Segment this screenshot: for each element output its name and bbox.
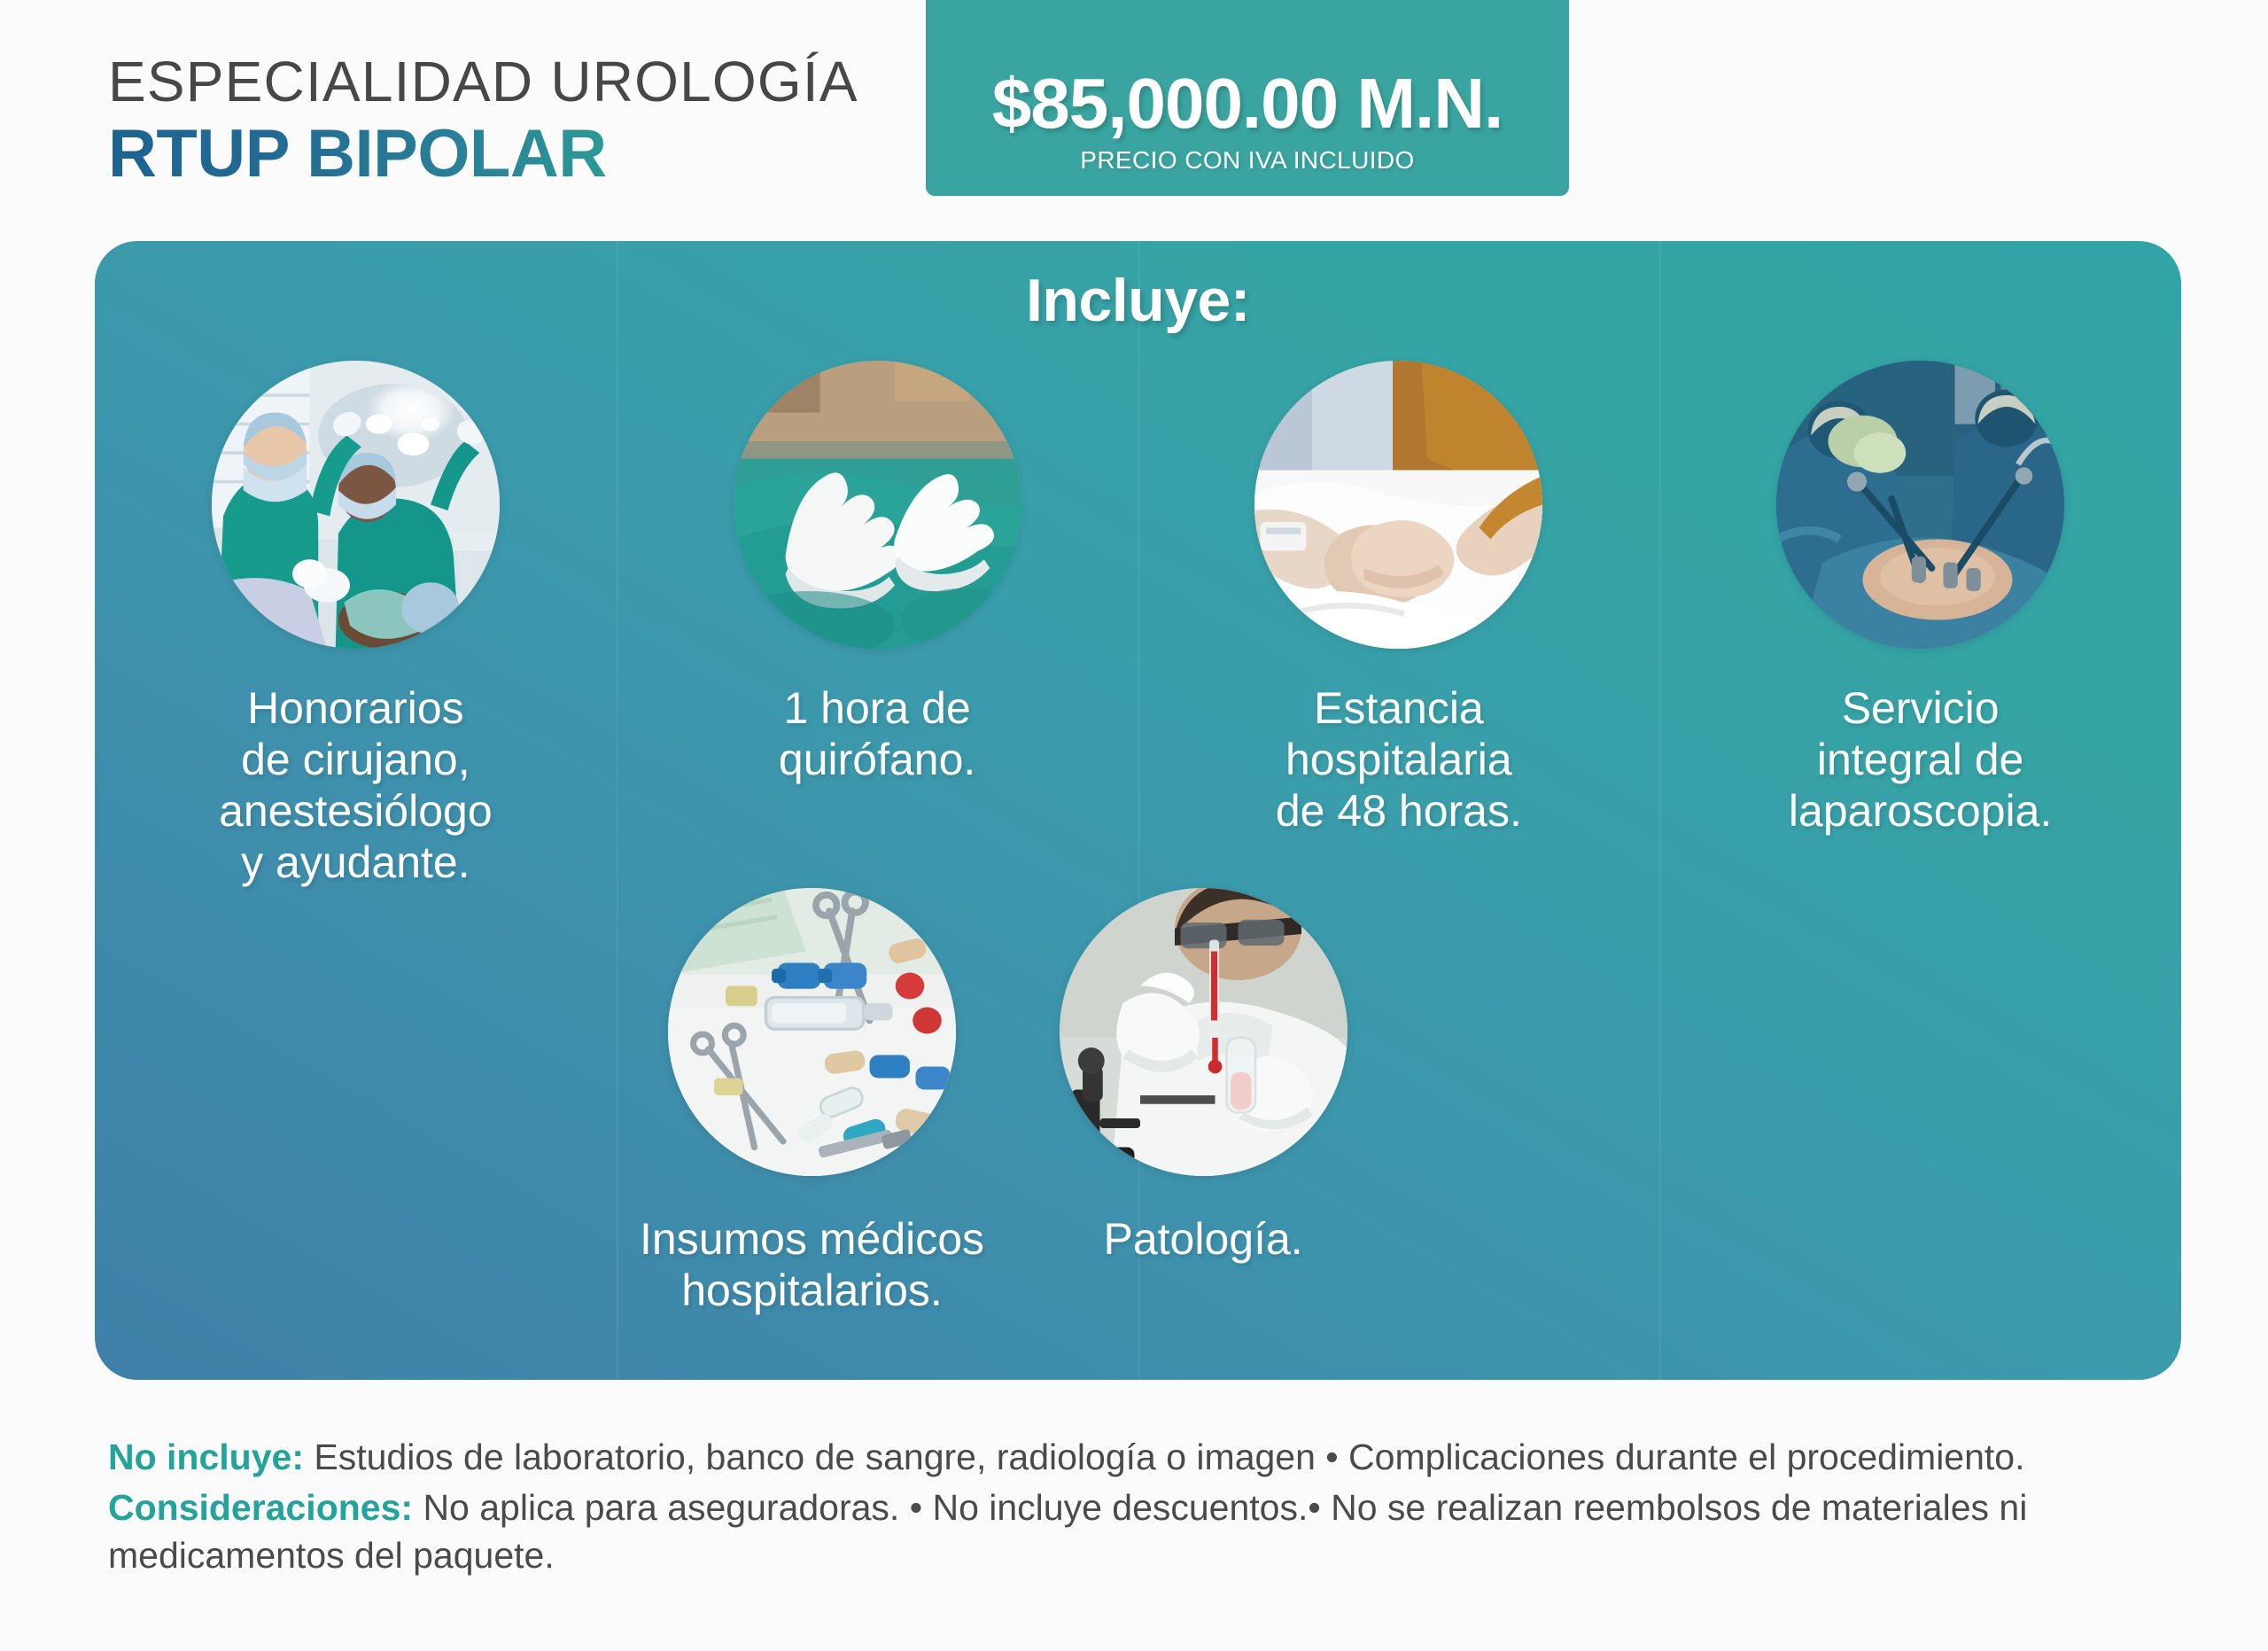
price-amount: $85,000.00 M.N. — [992, 68, 1503, 139]
includes-grid: Honorarios de cirujano, anestesiólogo y … — [95, 361, 2181, 1316]
include-item-label: Honorarios de cirujano, anestesiólogo y … — [219, 682, 493, 888]
patient-hands-hospital-bed-photo — [1254, 361, 1542, 649]
includes-row: Honorarios de cirujano, anestesiólogo y … — [95, 361, 2181, 888]
considerations-note: Consideraciones: No aplica para asegurad… — [108, 1484, 2172, 1579]
header: ESPECIALIDAD UROLOGÍA RTUP BIPOLAR $85,0… — [0, 0, 2268, 202]
not-included-lead: No incluye: — [108, 1437, 304, 1477]
specialty-title: ESPECIALIDAD UROLOGÍA — [108, 53, 858, 110]
laparoscopic-surgery-photo — [1776, 361, 2064, 649]
include-item: 1 hora de quirófano. — [617, 361, 1138, 888]
includes-row: Insumos médicos hospitalarios. — [95, 888, 2181, 1316]
considerations-lead: Consideraciones: — [108, 1487, 413, 1528]
footer-notes: No incluye: Estudios de laboratorio, ban… — [108, 1434, 2172, 1583]
not-included-note: No incluye: Estudios de laboratorio, ban… — [108, 1434, 2172, 1481]
includes-heading: Incluye: — [95, 266, 2181, 335]
include-item-label: Insumos médicos hospitalarios. — [640, 1213, 984, 1316]
include-item-label: 1 hora de quirófano. — [779, 682, 975, 785]
surgical-team-operating-room-photo — [212, 361, 500, 649]
include-item: Honorarios de cirujano, anestesiólogo y … — [95, 361, 617, 888]
medical-supplies-instruments-photo — [668, 888, 956, 1176]
include-item-label: Estancia hospitalaria de 48 horas. — [1276, 682, 1522, 837]
include-item: Estancia hospitalaria de 48 horas. — [1138, 361, 1660, 888]
gloved-hands-surgery-photo — [734, 361, 1021, 649]
infographic-page: ESPECIALIDAD UROLOGÍA RTUP BIPOLAR $85,0… — [0, 0, 2268, 1651]
title-block: ESPECIALIDAD UROLOGÍA RTUP BIPOLAR — [108, 53, 858, 188]
include-item: Insumos médicos hospitalarios. — [617, 888, 1008, 1316]
lab-technician-blood-sample-photo — [1060, 888, 1348, 1176]
include-item-label: Servicio integral de laparoscopia. — [1789, 682, 2052, 837]
includes-panel: Incluye: — [95, 241, 2181, 1380]
include-item: Patología. — [1007, 888, 1399, 1316]
not-included-text: Estudios de laboratorio, banco de sangre… — [304, 1437, 2025, 1477]
price-note: PRECIO CON IVA INCLUIDO — [1080, 146, 1414, 175]
include-item-label: Patología. — [1104, 1213, 1303, 1265]
procedure-title: RTUP BIPOLAR — [108, 121, 858, 188]
include-item: Servicio integral de laparoscopia. — [1659, 361, 2181, 888]
price-badge: $85,000.00 M.N. PRECIO CON IVA INCLUIDO — [926, 0, 1569, 196]
